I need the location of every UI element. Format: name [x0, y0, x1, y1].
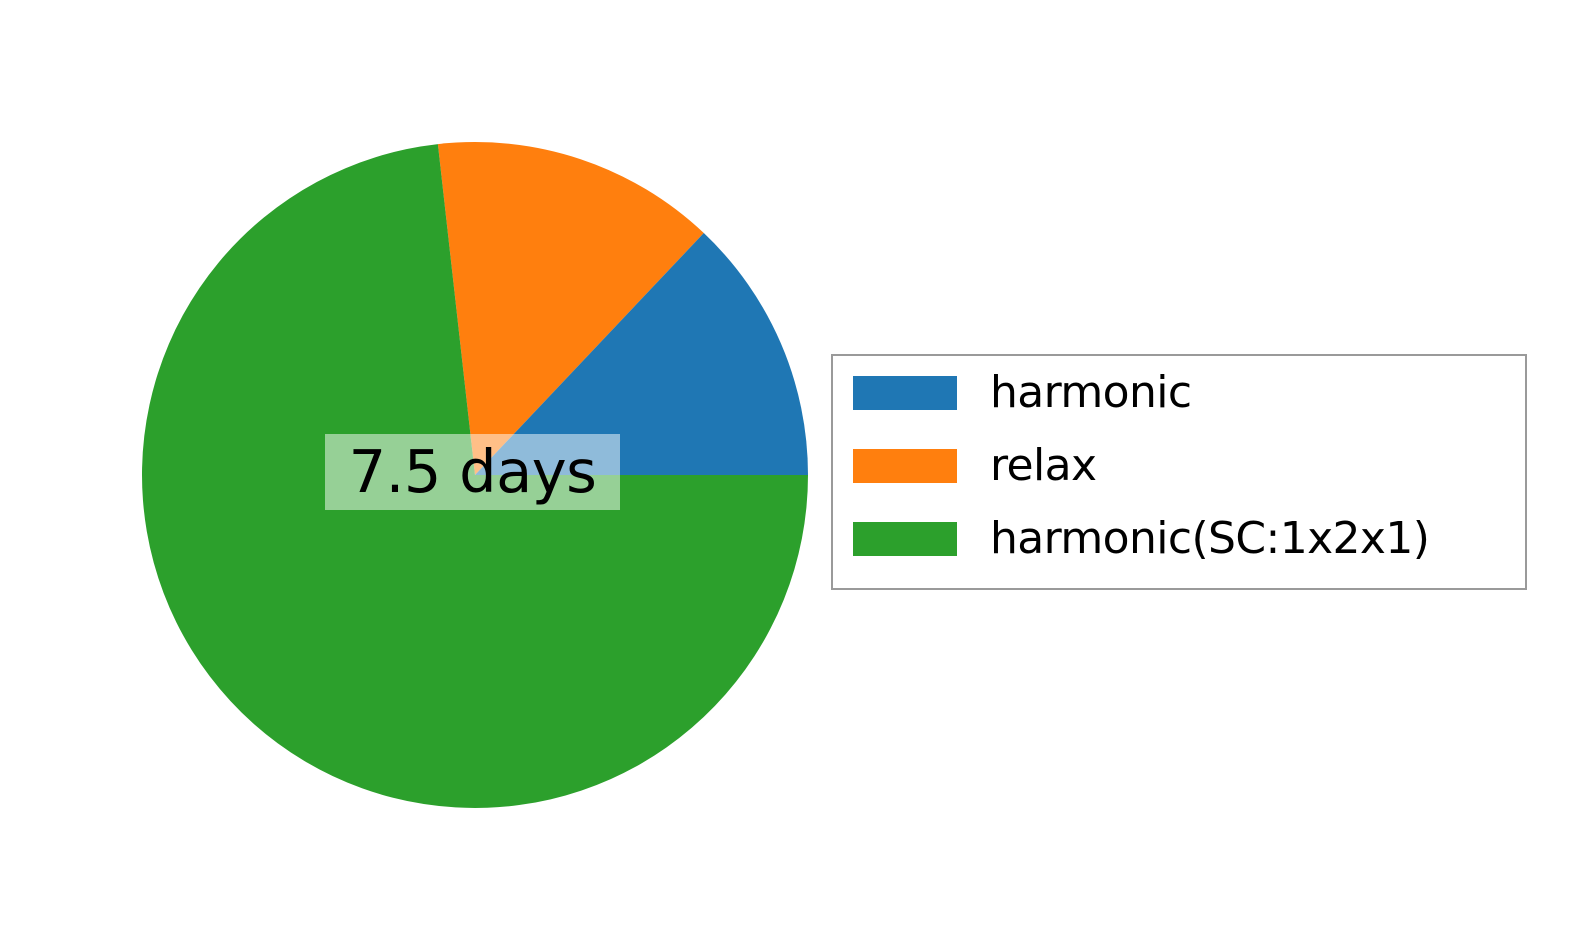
- pie-center-label-text: 7.5 days: [349, 442, 597, 501]
- legend-label-harmonic-sc: harmonic(SC:1x2x1): [990, 517, 1429, 561]
- legend-item-harmonic-sc[interactable]: harmonic(SC:1x2x1): [853, 517, 1429, 561]
- legend-swatch-relax: [853, 449, 957, 483]
- legend-swatch-harmonic-sc: [853, 522, 957, 556]
- legend: harmonic relax harmonic(SC:1x2x1): [831, 354, 1527, 590]
- legend-swatch-harmonic: [853, 376, 957, 410]
- legend-label-harmonic: harmonic: [990, 371, 1191, 415]
- figure-canvas: 7.5 days harmonic relax harmonic(SC:1x2x…: [0, 0, 1584, 951]
- legend-item-relax[interactable]: relax: [853, 444, 1096, 488]
- legend-item-harmonic[interactable]: harmonic: [853, 371, 1191, 415]
- pie-center-label: 7.5 days: [325, 434, 620, 510]
- legend-label-relax: relax: [990, 444, 1096, 488]
